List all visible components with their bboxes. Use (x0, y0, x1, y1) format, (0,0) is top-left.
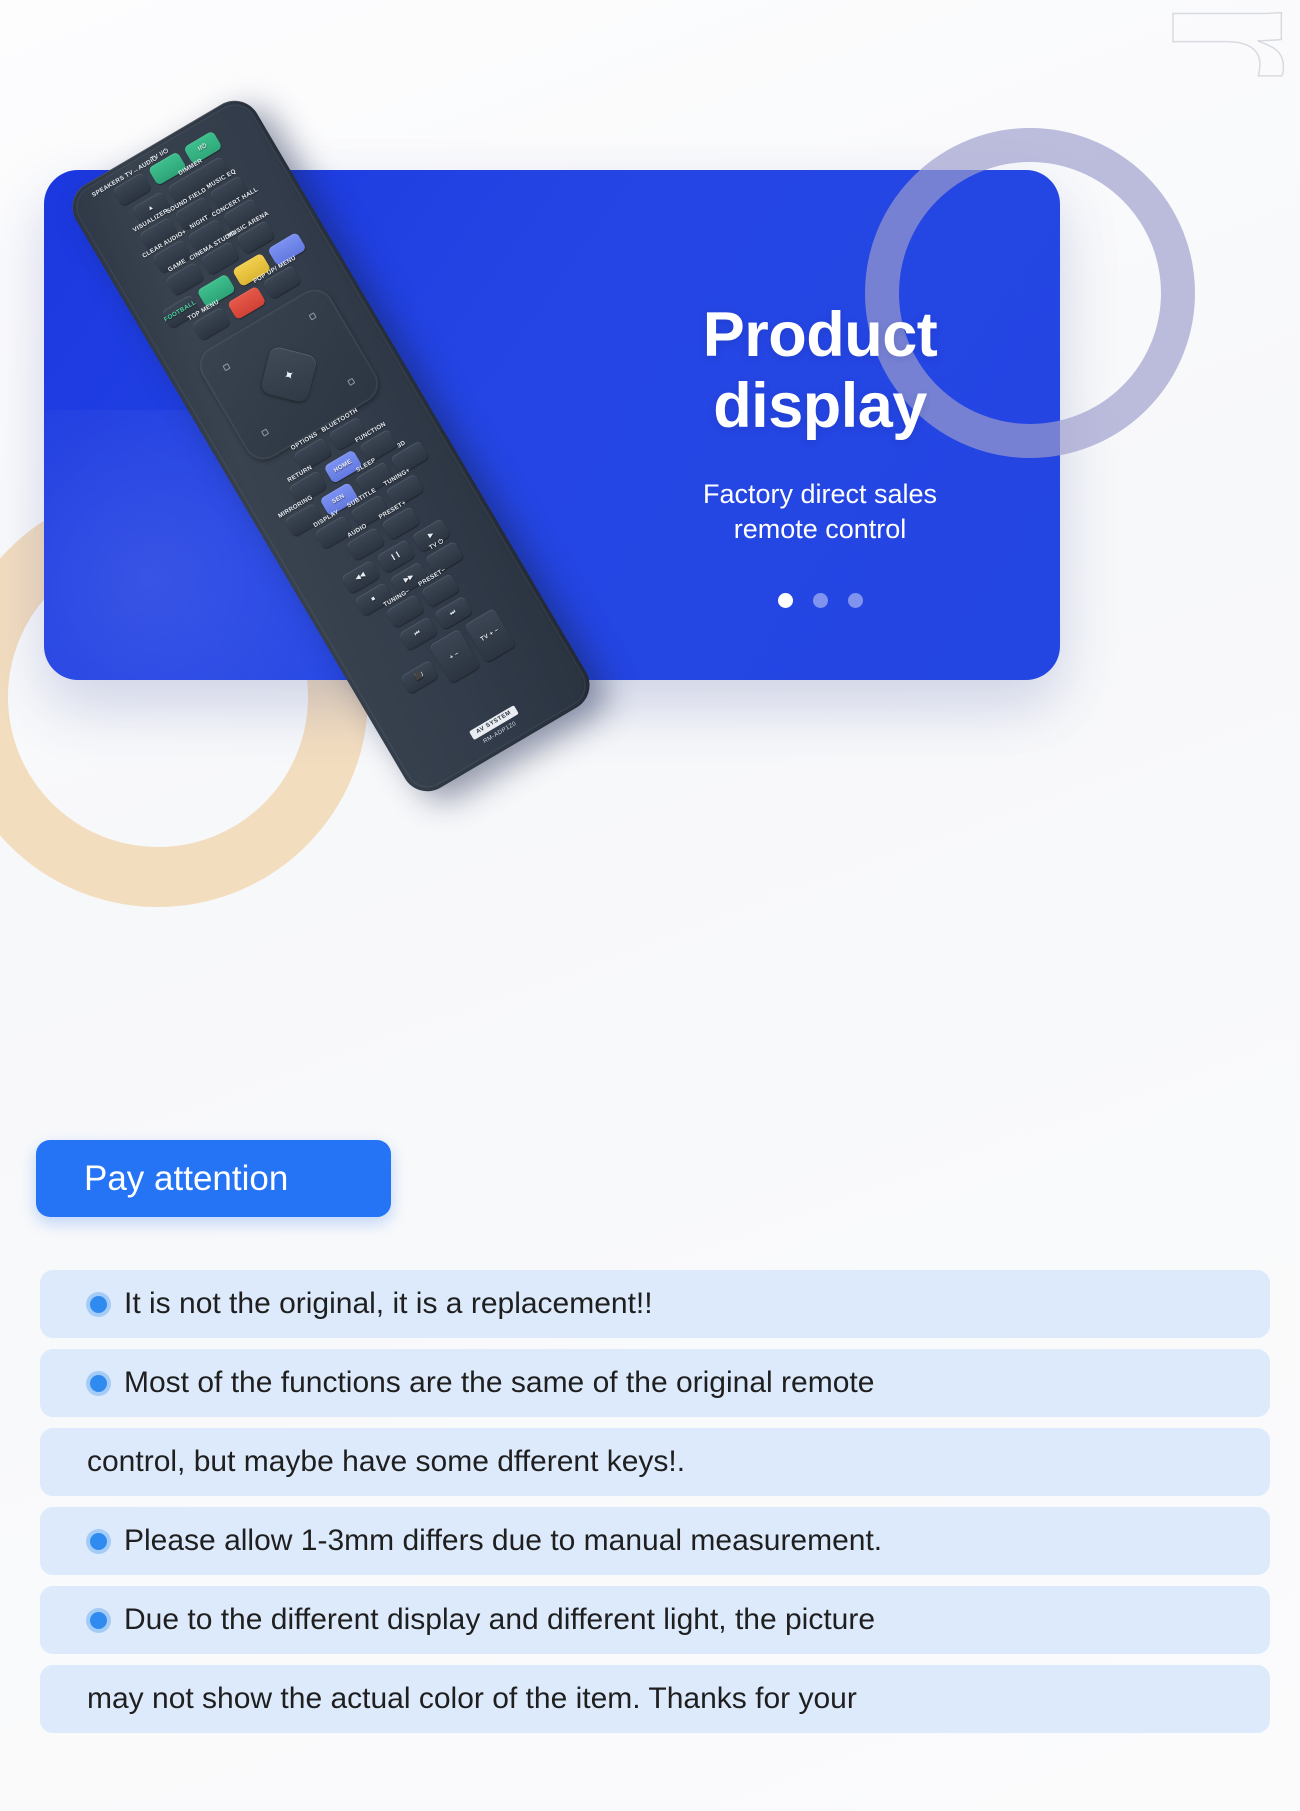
note-text: Due to the different display and differe… (124, 1605, 875, 1635)
remote-key-label: ▶ (428, 532, 436, 540)
note-text: Please allow 1-3mm differs due to manual… (124, 1526, 882, 1556)
list-item: Please allow 1-3mm differs due to manual… (40, 1507, 1270, 1575)
remote-key-label: ❙❙ (390, 551, 403, 562)
remote-key-label: SEN (331, 493, 346, 505)
remote-key-label: SPEAKERS TV↔AUDIO (91, 155, 159, 199)
remote-key-label: + − (449, 651, 461, 661)
remote-key-label: ▲ (147, 204, 156, 213)
dpad-corner-icon (309, 312, 317, 320)
bullet-icon (90, 1375, 107, 1392)
list-item: It is not the original, it is a replacem… (40, 1270, 1270, 1338)
dpad-enter-button[interactable]: ✦ (260, 345, 318, 403)
remote-key-label: TV I/⏻ (150, 148, 170, 163)
carousel-dot-2[interactable] (813, 593, 828, 608)
pay-attention-badge: Pay attention (36, 1140, 391, 1217)
attention-notes-list: It is not the original, it is a replacem… (40, 1270, 1270, 1744)
remote-body: SPEAKERS TV↔AUDIO TV I/⏻ I/⏻ ▲ DIMMER VI… (63, 91, 599, 801)
bullet-icon (90, 1612, 107, 1629)
bullet-icon (90, 1533, 107, 1550)
remote-key-top-menu[interactable]: TOP MENU (192, 307, 231, 341)
note-text: may not show the actual color of the ite… (87, 1684, 857, 1714)
remote-key-mute[interactable]: ⬛̸ (400, 660, 439, 694)
list-item: may not show the actual color of the ite… (40, 1665, 1270, 1733)
carousel-dot-1[interactable] (778, 593, 793, 608)
remote-key-label: 3D (397, 440, 407, 450)
dpad-corner-icon (347, 378, 355, 386)
remote-control-image: SPEAKERS TV↔AUDIO TV I/⏻ I/⏻ ▲ DIMMER VI… (38, 118, 698, 818)
remote-key-popup-menu[interactable]: POP UP/ MENU (262, 265, 301, 299)
remote-key-label: I/⏻ (197, 143, 208, 153)
remote-key-label: ■ (371, 596, 378, 603)
remote-key-label: ▶▶ (403, 573, 415, 583)
remote-key-label: ⏭ (449, 609, 457, 617)
note-text: It is not the original, it is a replacem… (124, 1289, 653, 1319)
list-item: Most of the functions are the same of th… (40, 1349, 1270, 1417)
remote-key-label: ◀◀ (355, 572, 367, 582)
remote-key-label: HOME (333, 459, 353, 474)
dpad-enter-icon: ✦ (281, 366, 297, 383)
remote-key-label: ⏮ (414, 630, 422, 638)
product-display-page: ombot+pr Product display Factory direct … (0, 0, 1300, 1811)
dpad-corner-icon (222, 363, 230, 371)
pay-attention-label: Pay attention (36, 1159, 288, 1199)
note-text: control, but maybe have some dfferent ke… (87, 1447, 685, 1477)
carousel-dot-3[interactable] (848, 593, 863, 608)
remote-key-label: TV + − (480, 628, 501, 644)
note-text: Most of the functions are the same of th… (124, 1368, 874, 1398)
bullet-icon (90, 1296, 107, 1313)
remote-key-label: ⬛̸ (414, 672, 424, 682)
dpad-corner-icon (261, 428, 269, 436)
remote-model-number: RM-ADP120 (408, 677, 592, 789)
list-item: Due to the different display and differe… (40, 1586, 1270, 1654)
list-item: control, but maybe have some dfferent ke… (40, 1428, 1270, 1496)
